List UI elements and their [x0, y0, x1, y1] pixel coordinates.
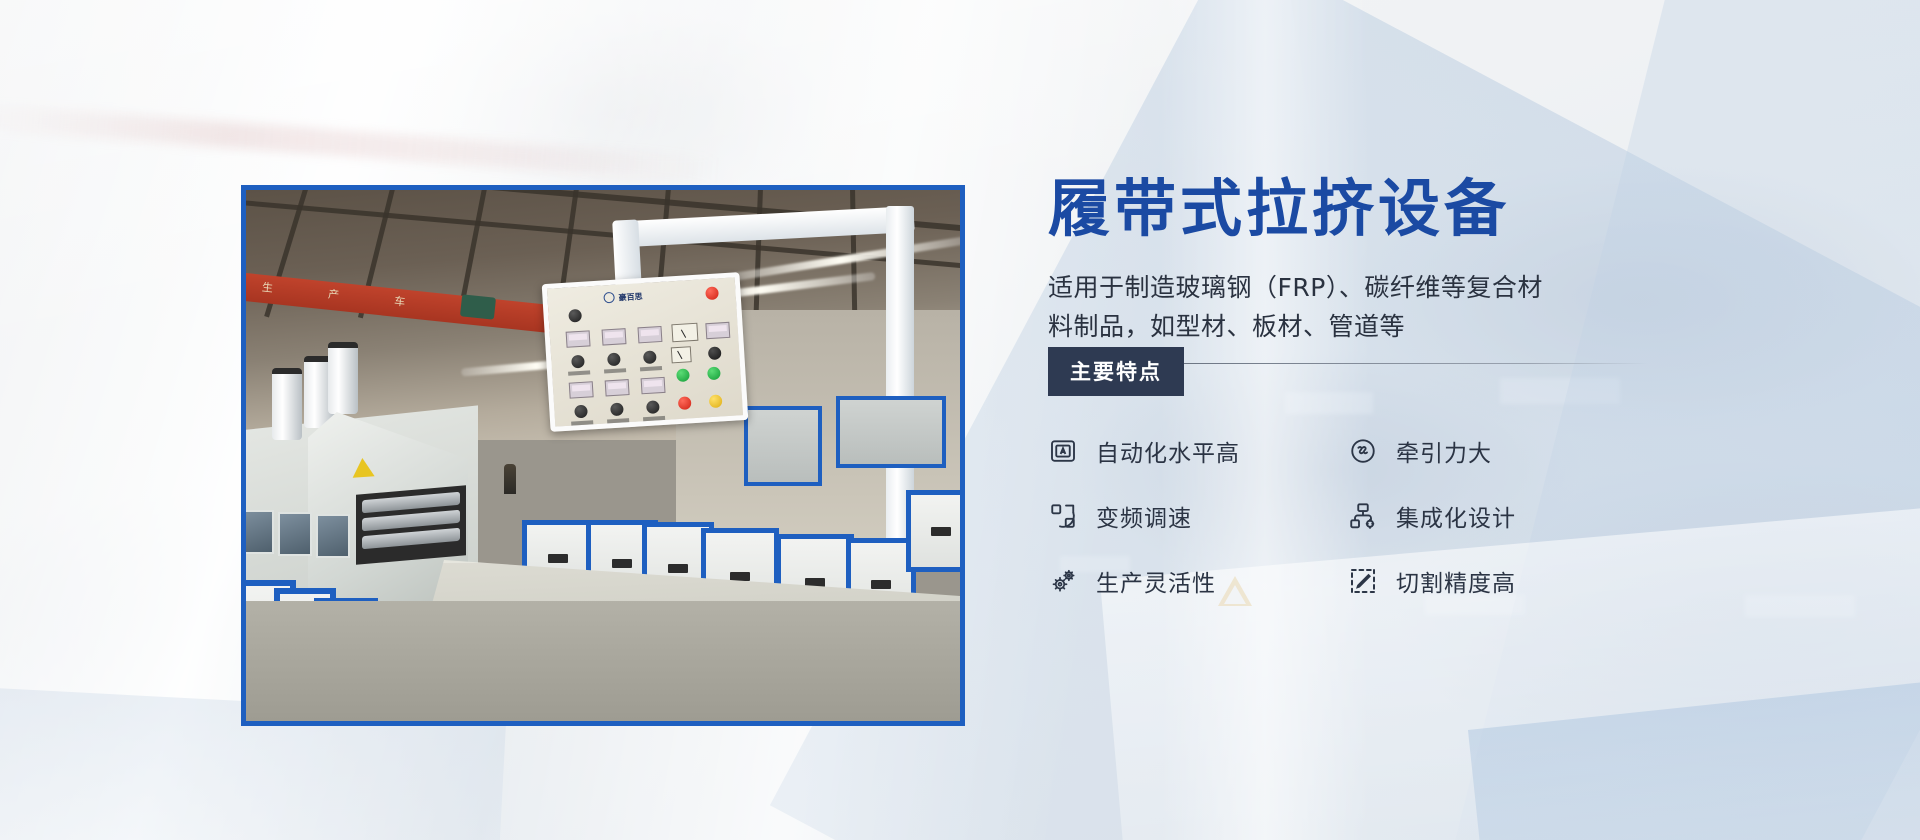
cabinet	[906, 490, 960, 572]
feature-item-automation: 自动化水平高	[1048, 434, 1348, 468]
panel-knob	[610, 402, 624, 416]
page-title: 履带式拉挤设备	[1048, 176, 1768, 241]
panel-brand-text: 豪百思	[618, 291, 643, 303]
panel-brand-logo: 豪百思	[603, 289, 658, 303]
panel-lamp	[708, 346, 722, 360]
panel-label	[607, 418, 629, 423]
panel-label	[643, 416, 665, 421]
panel-knob	[568, 309, 582, 323]
product-photo: 生 产 车 间 豪百思	[241, 185, 965, 726]
panel-meter	[605, 379, 630, 396]
panel-lamp-red	[705, 286, 719, 300]
caterpillar-rollers	[356, 485, 466, 565]
panel-lamp-green	[676, 368, 690, 382]
distant-machine	[836, 396, 946, 468]
machine-window	[316, 514, 350, 558]
banner-content: 履带式拉挤设备 适用于制造玻璃钢（FRP）、碳纤维等复合材 料制品，如型材、板材…	[1048, 176, 1768, 598]
feature-label: 集成化设计	[1396, 499, 1516, 533]
panel-meter	[602, 328, 627, 345]
panel-knob	[571, 355, 585, 369]
section-badge: 主要特点	[1048, 347, 1184, 396]
panel-knob	[646, 400, 660, 414]
warning-triangle-icon	[351, 457, 374, 477]
feature-item-integration: 集成化设计	[1348, 499, 1648, 533]
gears-icon	[1048, 566, 1078, 596]
feature-item-flexibility: 生产灵活性	[1048, 564, 1348, 598]
panel-meter	[641, 377, 666, 394]
distant-machine	[744, 406, 822, 486]
banner-stage: 生 产 车 间 豪百思	[0, 0, 1920, 840]
panel-gauge	[671, 346, 692, 363]
panel-meter	[569, 381, 594, 398]
worker-silhouette	[504, 464, 516, 494]
panel-lamp-green	[707, 366, 721, 380]
crane-motor	[460, 294, 496, 319]
feature-label: 变频调速	[1096, 499, 1192, 533]
feature-label: 牵引力大	[1396, 434, 1492, 468]
panel-meter	[637, 326, 662, 343]
description-line-1: 适用于制造玻璃钢（FRP）、碳纤维等复合材	[1048, 269, 1648, 308]
product-photo-image: 生 产 车 间 豪百思	[246, 190, 960, 721]
feature-label: 生产灵活性	[1096, 564, 1216, 598]
feature-label: 切割精度高	[1396, 564, 1516, 598]
precision-icon	[1348, 566, 1378, 596]
panel-knob	[574, 405, 588, 419]
panel-knob	[643, 350, 657, 364]
product-description: 适用于制造玻璃钢（FRP）、碳纤维等复合材 料制品，如型材、板材、管道等	[1048, 269, 1648, 347]
panel-knob	[607, 353, 621, 367]
panel-logo-circle	[603, 292, 615, 304]
panel-lamp-yellow	[709, 394, 723, 408]
feature-item-frequency: 变频调速	[1048, 499, 1348, 533]
frequency-icon	[1048, 501, 1078, 531]
feature-item-precision: 切割精度高	[1348, 564, 1648, 598]
panel-meter	[566, 330, 591, 347]
panel-label	[568, 370, 590, 375]
feature-label: 自动化水平高	[1096, 434, 1240, 468]
panel-label	[571, 420, 593, 425]
hydraulic-cylinder	[272, 368, 302, 440]
feature-list: 自动化水平高 牵引力大	[1048, 434, 1768, 598]
description-line-2: 料制品，如型材、板材、管道等	[1048, 308, 1648, 347]
machine-window	[278, 512, 312, 556]
feature-item-traction: 牵引力大	[1348, 434, 1648, 468]
panel-label	[640, 366, 662, 371]
panel-lamp-red	[678, 396, 692, 410]
integration-icon	[1348, 501, 1378, 531]
hydraulic-cylinder	[328, 342, 358, 414]
panel-meter	[705, 322, 730, 339]
panel-label	[604, 368, 626, 373]
traction-icon	[1348, 436, 1378, 466]
control-panel: 豪百思	[542, 272, 749, 432]
machine-window	[246, 510, 274, 554]
automation-icon	[1048, 436, 1078, 466]
panel-gauge	[671, 323, 698, 343]
factory-floor	[246, 601, 960, 721]
